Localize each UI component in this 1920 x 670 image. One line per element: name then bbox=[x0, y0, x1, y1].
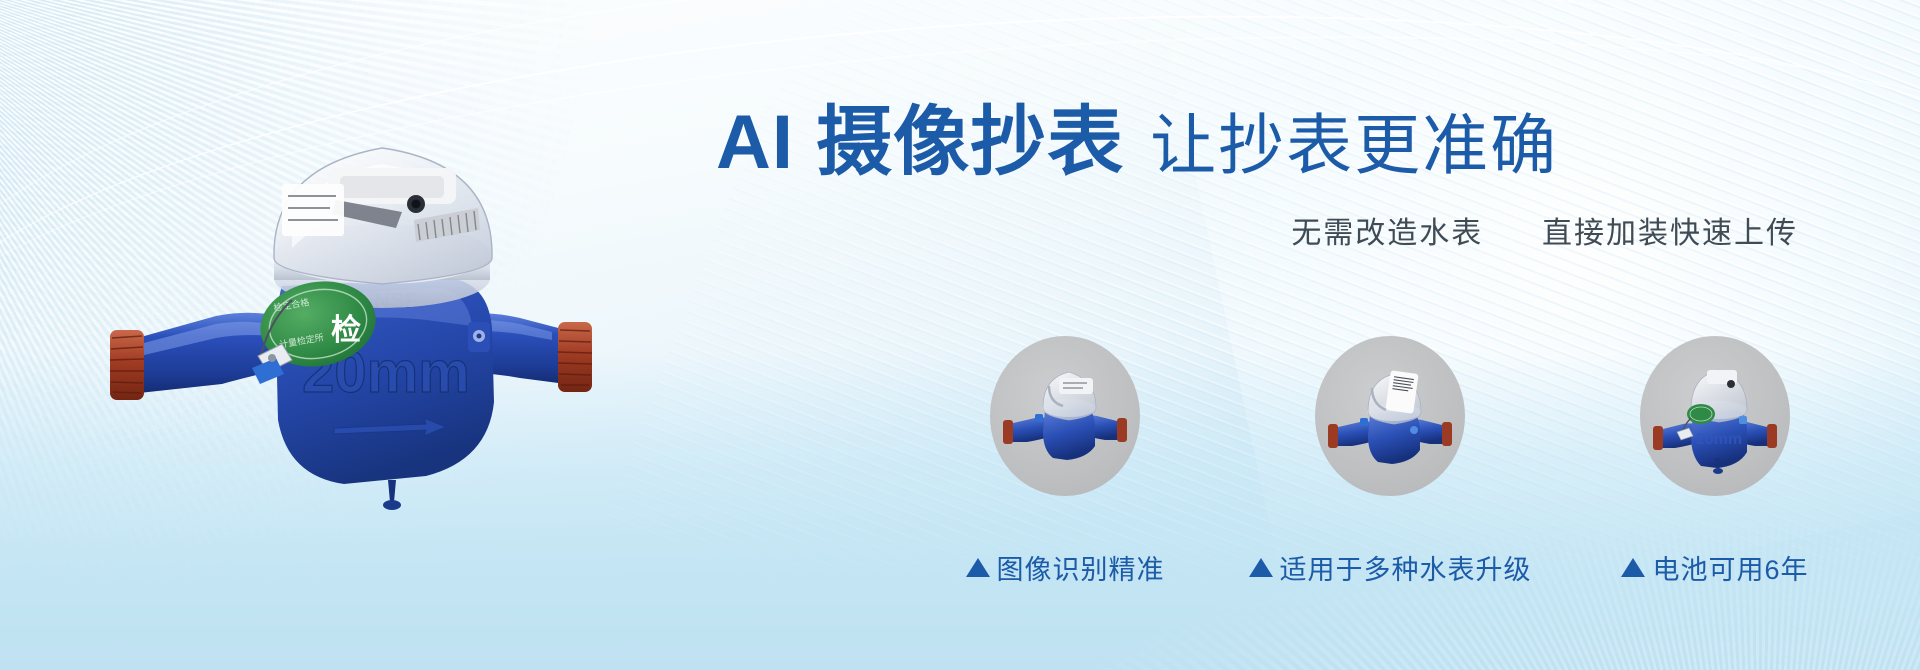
svg-text:20mm: 20mm bbox=[1696, 431, 1742, 448]
banner-subtitle: 无需改造水表 直接加装快速上传 bbox=[716, 208, 1856, 252]
feature-caption-text-2: 适用于多种水表升级 bbox=[1280, 548, 1532, 587]
triangle-up-icon bbox=[1621, 558, 1645, 577]
headline-secondary: 让抄表更准确 bbox=[1150, 108, 1558, 182]
feature-caption-3: 电池可用6年 bbox=[1621, 548, 1808, 587]
triangle-up-icon bbox=[966, 558, 990, 577]
feature-item-image-recognition[interactable]: 图像识别精准 bbox=[940, 336, 1190, 587]
subtitle-part-2: 直接加装快速上传 bbox=[1542, 217, 1798, 250]
hero-product-image: 20mm NSF bbox=[96, 72, 616, 572]
feature-caption-1: 图像识别精准 bbox=[966, 548, 1165, 587]
meter-side-screw bbox=[468, 322, 490, 352]
headline-primary: AI 摄像抄表 bbox=[716, 100, 1124, 185]
seal-character: 检 bbox=[331, 313, 361, 347]
product-banner: 20mm NSF bbox=[0, 0, 1920, 670]
triangle-up-icon bbox=[1249, 558, 1273, 577]
subtitle-part-1: 无需改造水表 bbox=[1291, 217, 1483, 250]
water-meter-photo-3: 20mm bbox=[1640, 336, 1790, 496]
feature-caption-text-1: 图像识别精准 bbox=[997, 548, 1165, 587]
meter-thumb-illustration-3: 20mm bbox=[1651, 352, 1779, 480]
page-title: AI 摄像抄表让抄表更准确 bbox=[716, 104, 1856, 182]
feature-item-battery-life[interactable]: 20mm 电池可用6年 bbox=[1590, 336, 1840, 587]
meter-thumb-illustration-2 bbox=[1326, 352, 1454, 480]
meter-transparent-dome bbox=[274, 148, 492, 284]
water-meter-illustration: 20mm NSF bbox=[96, 72, 616, 572]
feature-caption-text-3: 电池可用6年 bbox=[1652, 548, 1808, 587]
water-meter-photo-1 bbox=[990, 336, 1140, 496]
feature-item-meter-compatibility[interactable]: 适用于多种水表升级 bbox=[1265, 336, 1515, 587]
feature-list: 图像识别精准 bbox=[940, 336, 1840, 587]
meter-thumb-illustration-1 bbox=[1001, 352, 1129, 480]
feature-caption-2: 适用于多种水表升级 bbox=[1249, 548, 1532, 587]
water-meter-photo-2 bbox=[1315, 336, 1465, 496]
banner-copy: AI 摄像抄表让抄表更准确 无需改造水表 直接加装快速上传 bbox=[716, 104, 1856, 252]
